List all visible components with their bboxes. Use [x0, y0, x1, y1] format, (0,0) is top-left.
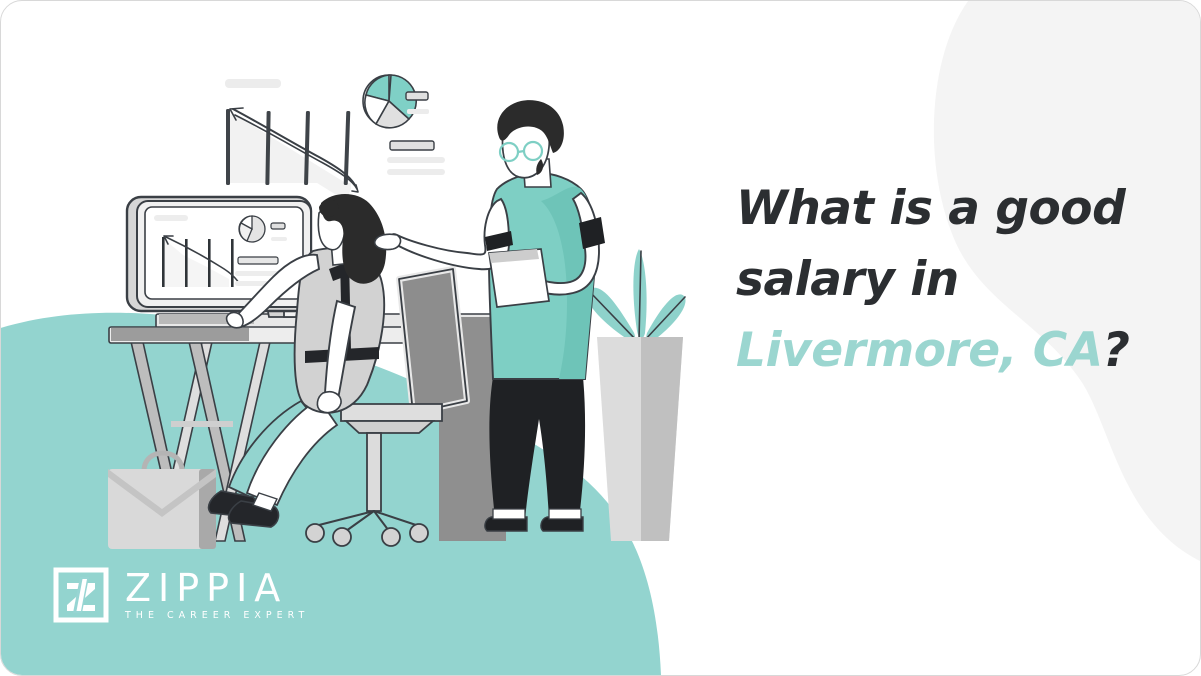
man-pants	[489, 377, 585, 519]
logo-tagline: THE CAREER EXPERT	[125, 609, 309, 623]
man-sock-right	[549, 509, 581, 519]
woman-hand-pointing	[227, 312, 243, 327]
man-hand-pointing	[375, 234, 401, 249]
monitor-chip-wide	[238, 257, 278, 264]
dashboard-legend-line	[407, 109, 429, 114]
dashboard-chip-wide	[390, 141, 434, 150]
dashboard-title-bar	[225, 79, 281, 88]
chair-cylinder	[367, 433, 381, 511]
monitor-chart-title	[154, 215, 188, 221]
monitor-legend-chip	[271, 223, 285, 229]
headline-line-1: What is a good	[736, 173, 1166, 244]
dashboard-legend-chip	[406, 92, 428, 100]
zippia-logo[interactable]: ZIPPIA THE CAREER EXPERT	[53, 567, 309, 623]
plant-pot-shade	[641, 337, 683, 541]
dashboard-bar-1	[226, 109, 230, 185]
chair-seat-front	[346, 421, 433, 433]
dashboard-text-bar-2	[387, 169, 445, 175]
dashboard-text-bar-1	[387, 157, 445, 163]
monitor-bar-1	[162, 237, 165, 287]
page-title: What is a good salary in Livermore, CA?	[736, 173, 1166, 386]
headline-line-3: Livermore, CA?	[736, 315, 1166, 386]
desk-top-shadow	[111, 328, 249, 341]
monitor-bar-3	[208, 239, 211, 287]
headline-question-mark: ?	[1103, 323, 1130, 378]
man-sock-left	[493, 509, 525, 519]
desk-cross-brace	[171, 421, 233, 427]
zippia-z-monogram-icon	[53, 567, 109, 623]
man-glasses-bridge	[518, 151, 524, 152]
chair-backrest	[399, 269, 467, 413]
logo-text-block: ZIPPIA THE CAREER EXPERT	[125, 568, 309, 623]
plant-stem-2	[589, 291, 637, 341]
monitor-bar-4	[231, 239, 234, 287]
headline-location-accent: Livermore, CA	[736, 323, 1103, 378]
potted-plant	[587, 249, 686, 541]
logo-wordmark: ZIPPIA	[125, 568, 309, 608]
woman-hand-rest	[317, 392, 341, 413]
monitor-legend-line	[271, 237, 287, 241]
desktop-monitor	[127, 197, 311, 317]
monitor-pie-chart	[239, 216, 265, 242]
plant-stem-3	[644, 297, 685, 341]
chair-casters	[306, 524, 428, 546]
headline-line-2: salary in	[736, 244, 1166, 315]
promo-card: .o{fill:none;stroke:#3a3f45;stroke-width…	[0, 0, 1201, 676]
dashboard-pie-chart	[363, 75, 416, 128]
background-dashboard	[225, 75, 445, 201]
chair-seat	[341, 404, 442, 421]
